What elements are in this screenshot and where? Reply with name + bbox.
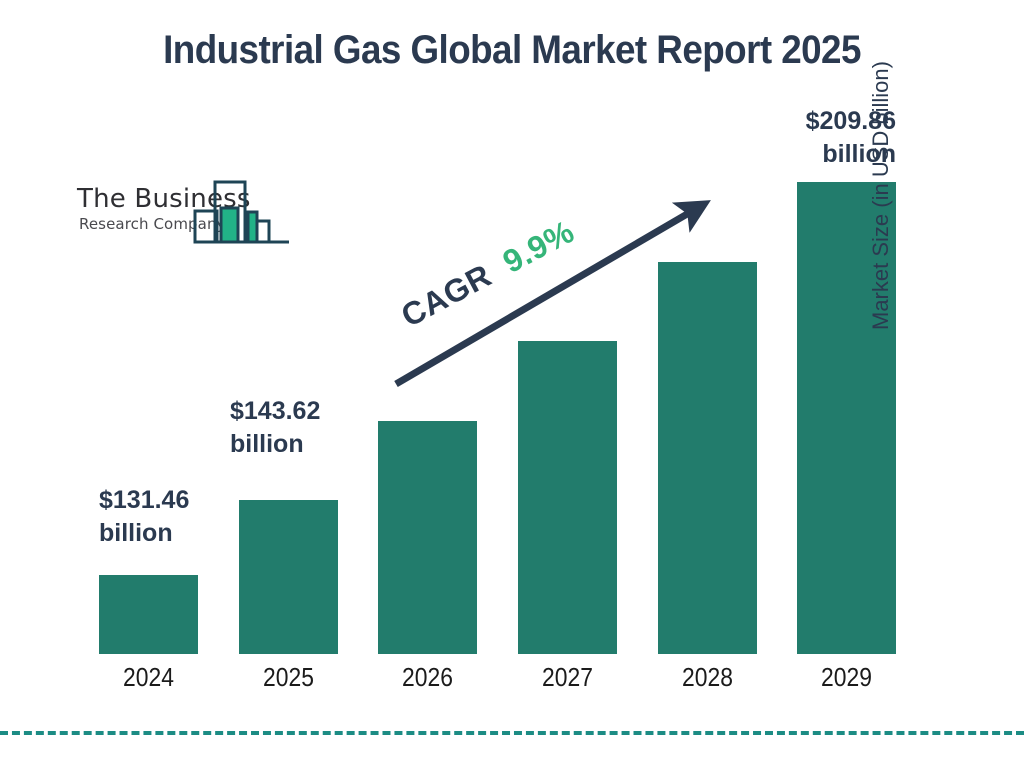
value-label-2025: $143.62 billion: [230, 395, 420, 461]
x-tick-2024: 2024: [105, 662, 192, 693]
x-tick-2027: 2027: [524, 662, 611, 693]
bar-2027: [518, 341, 617, 654]
cagr-value: 9.9%: [497, 213, 580, 280]
value-label-2029: $209.86 billion: [696, 105, 896, 171]
value-label-2024: $131.46 billion: [99, 484, 279, 550]
bar-2028: [658, 262, 757, 654]
bar-2024: [99, 575, 198, 654]
y-axis-label: Market Size (in USD billion): [868, 0, 894, 330]
cagr-annotation: CAGR 9.9%: [395, 213, 580, 335]
cagr-label: CAGR: [395, 257, 497, 334]
page-title: Industrial Gas Global Market Report 2025: [41, 28, 983, 73]
logo-bar-chart-icon: [193, 178, 291, 248]
brand-logo: The Business Research Company: [75, 178, 290, 250]
x-tick-2029: 2029: [803, 662, 890, 693]
x-tick-2025: 2025: [245, 662, 332, 693]
x-tick-2028: 2028: [664, 662, 751, 693]
footer-divider: [0, 731, 1024, 735]
x-tick-2026: 2026: [384, 662, 471, 693]
chart-container: Industrial Gas Global Market Report 2025…: [0, 0, 1024, 768]
